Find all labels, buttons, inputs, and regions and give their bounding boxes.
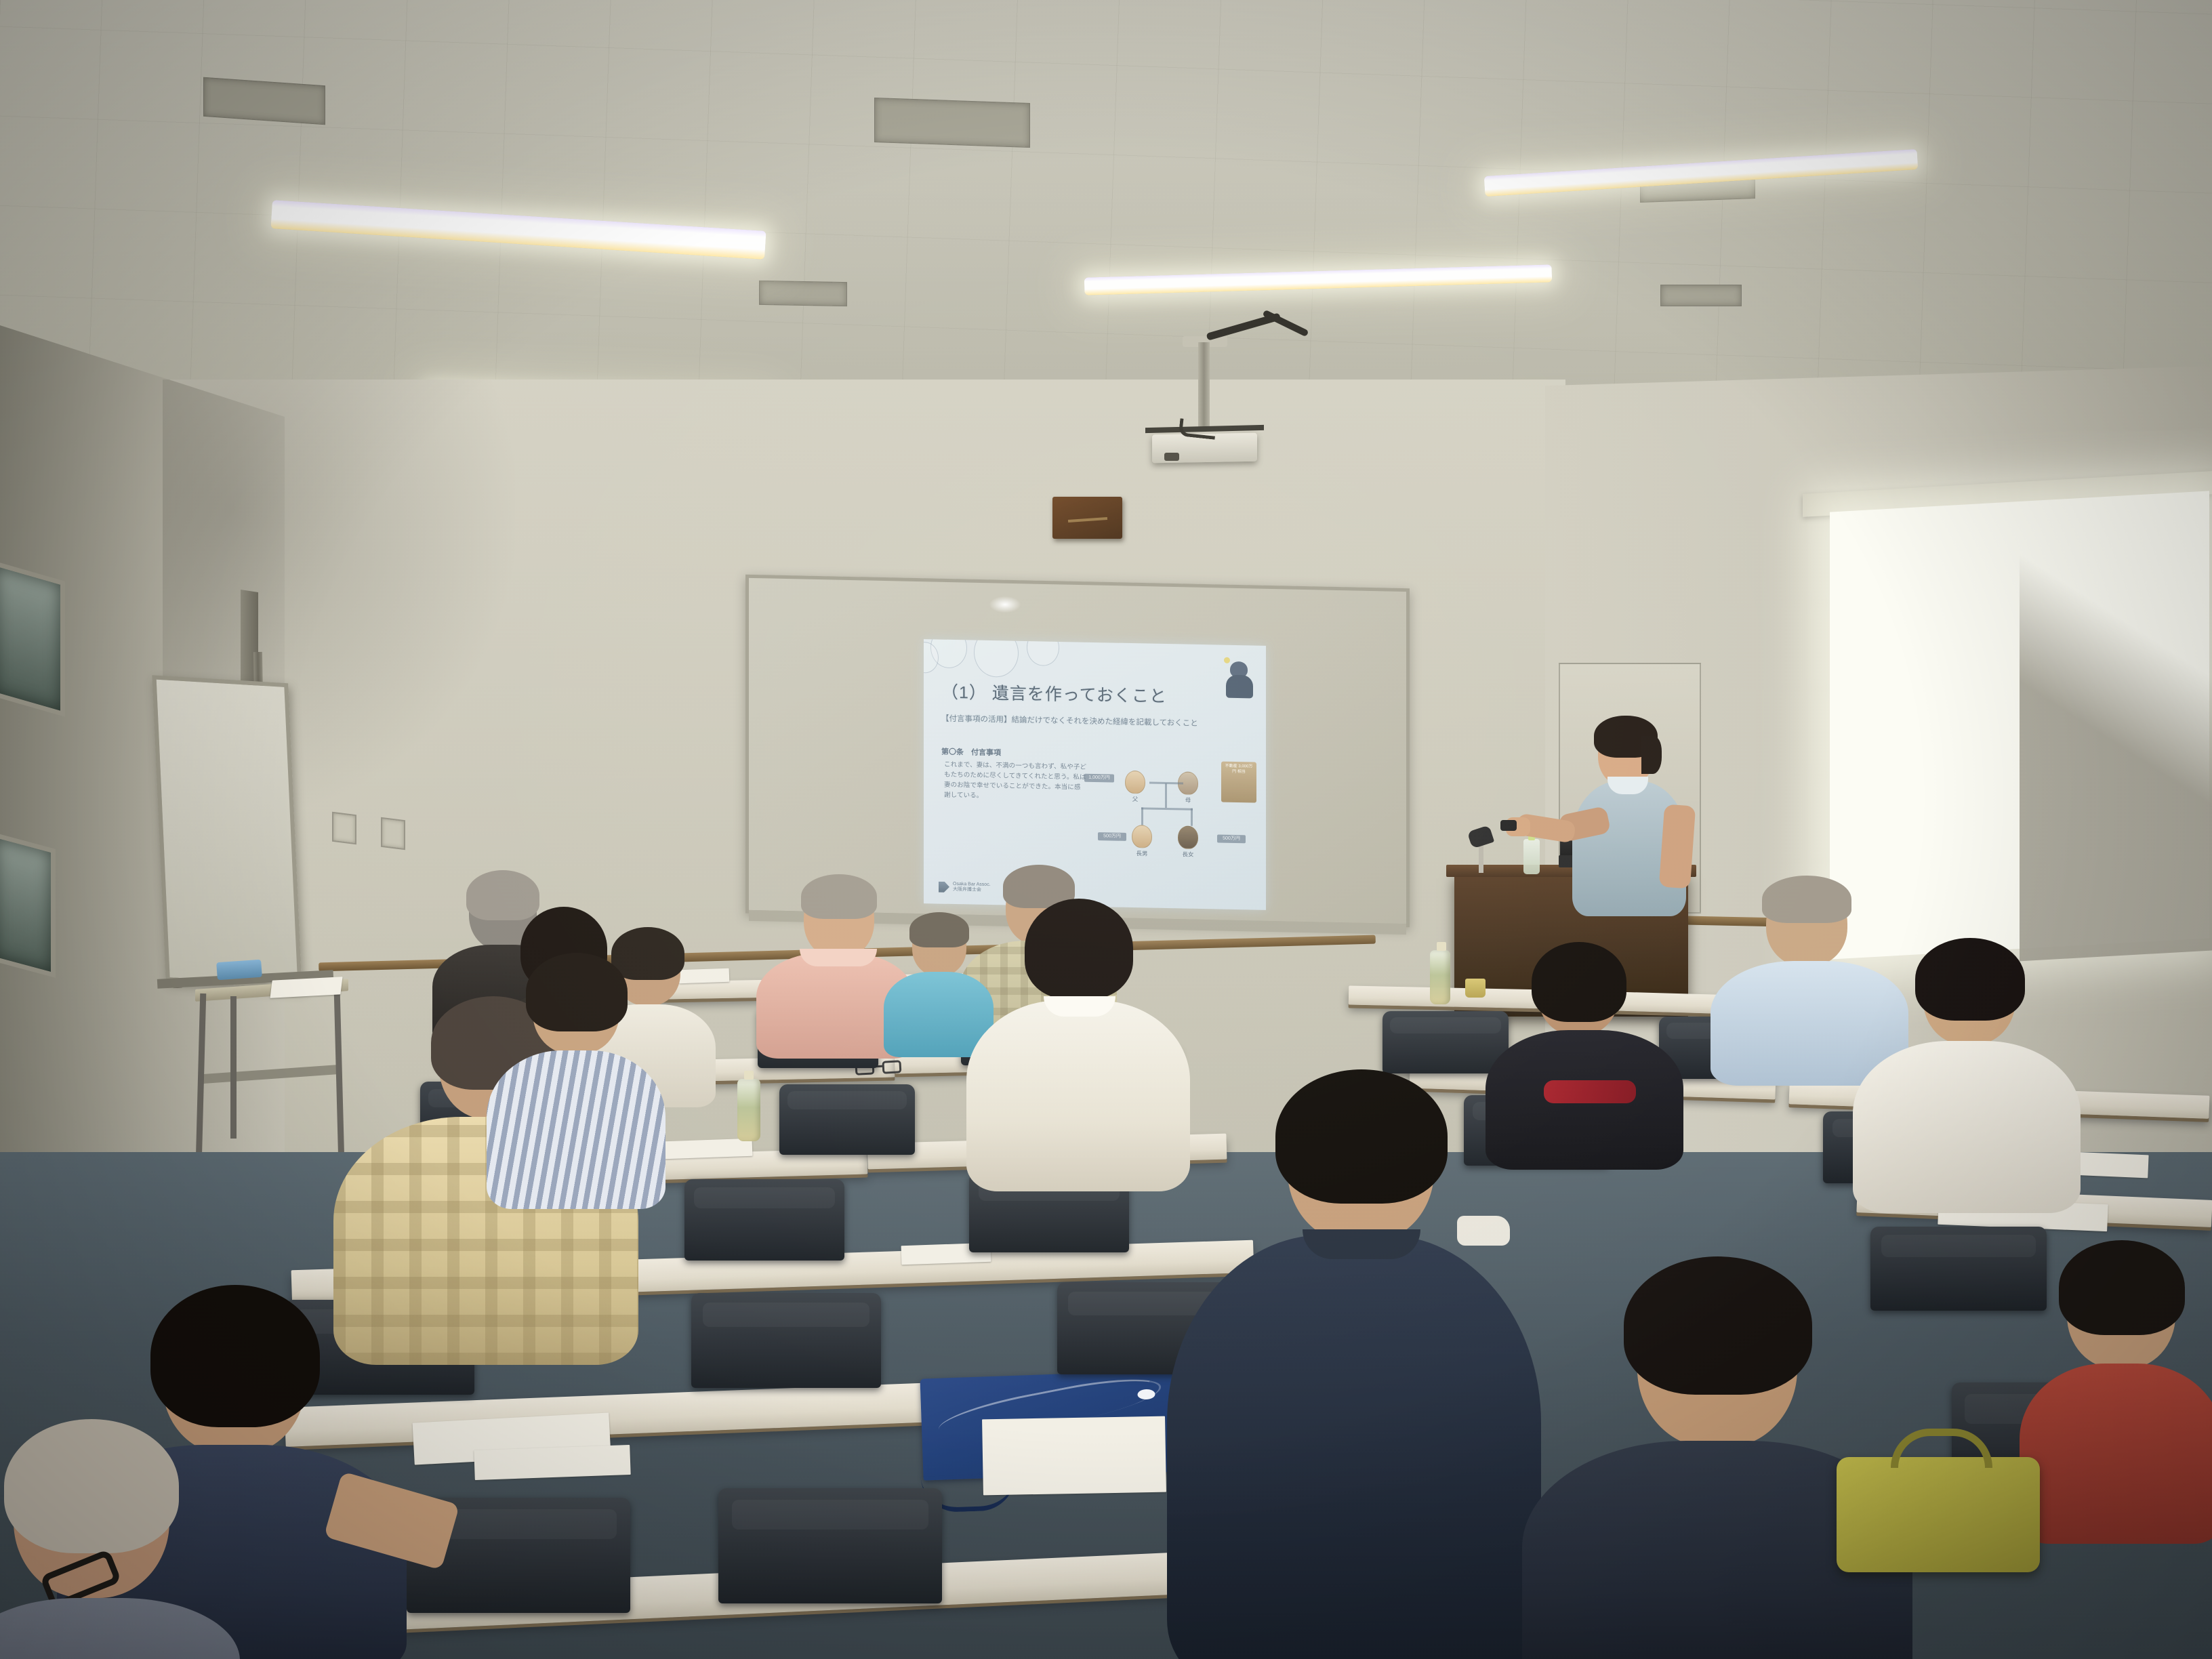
chair-r2-b[interactable] xyxy=(779,1084,915,1155)
attendee-torso xyxy=(1853,1041,2081,1213)
presenter-arm-right xyxy=(1659,804,1696,889)
water-bottle-desk-left[interactable] xyxy=(1430,950,1450,1004)
seminar-room-photo: （1） 遺言を作っておくこと 【付言事項の活用】結論だけでなくそれを決めた経緯を… xyxy=(0,0,2212,1659)
tree-figure-mother: 母 xyxy=(1178,771,1198,804)
slide-clause-heading: 第〇条 付言事項 xyxy=(941,746,1001,758)
attendee-hair-icon xyxy=(1762,876,1851,923)
microphone-stem xyxy=(1479,843,1483,873)
tree-note: 不動産 3,000万円 相当 xyxy=(1221,762,1256,803)
tree-figure-father: 父 xyxy=(1125,771,1145,804)
shoe-white xyxy=(1457,1216,1510,1246)
wall-outlet-1[interactable] xyxy=(332,812,356,844)
mobile-whiteboard[interactable] xyxy=(152,675,302,989)
family-tree-diagram: 不動産 3,000万円 相当 父 母 長男 長女 1,000万 xyxy=(1102,759,1256,890)
whiteboard-eraser[interactable] xyxy=(216,960,262,981)
tree-label-daughter: 長女 xyxy=(1178,850,1198,859)
attendee-torso xyxy=(2020,1364,2212,1544)
attendee-front-elderly-grey xyxy=(0,1429,258,1659)
attendee-hair-icon xyxy=(1532,942,1626,1022)
tree-label-mother: 母 xyxy=(1178,796,1198,804)
attendee-torso xyxy=(1167,1235,1541,1659)
attendee-hair-icon xyxy=(1915,938,2025,1021)
tree-amount-son: 500万円 xyxy=(1098,832,1126,841)
chair-r3-a[interactable] xyxy=(684,1179,844,1261)
ceiling-vent-5 xyxy=(1660,285,1742,306)
wall-outlet-2[interactable] xyxy=(381,817,405,850)
lawyer-illustration-icon xyxy=(1224,657,1255,700)
left-wall-window-upper xyxy=(0,560,65,717)
chair-r4-b[interactable] xyxy=(691,1293,881,1388)
slide-body-text: これまで、妻は、不満の一つも言わず、私や子どもたちのために尽くしてきてくれたと思… xyxy=(944,760,1086,803)
attendee-torso xyxy=(0,1598,240,1659)
remote-clicker-icon[interactable] xyxy=(1500,820,1517,831)
attendee-torso xyxy=(487,1050,665,1209)
attendee-hair-icon xyxy=(4,1419,179,1553)
tree-son-line xyxy=(1141,807,1143,825)
tree-descend-line xyxy=(1165,783,1167,808)
attendee-right-mid-white-polo xyxy=(1847,946,2086,1204)
tree-figure-daughter: 長女 xyxy=(1178,825,1198,859)
tree-amount-father: 1,000万円 xyxy=(1084,774,1114,783)
tree-sibling-line xyxy=(1141,807,1193,810)
right-window-shadow xyxy=(2020,510,2212,962)
tote-documents[interactable] xyxy=(982,1416,1166,1496)
attendee-right-edge xyxy=(2020,1251,2212,1536)
attendee-hair-icon xyxy=(150,1285,320,1427)
tree-label-father: 父 xyxy=(1125,795,1145,804)
attendee-hair-icon xyxy=(1624,1256,1812,1395)
slide-subtitle: 【付言事項の活用】結論だけでなくそれを決めた経緯を記載しておくこと xyxy=(941,714,1250,731)
attendee-collar xyxy=(1044,996,1115,1017)
left-wall-window-lower xyxy=(0,832,56,978)
projector-pole xyxy=(1198,342,1210,429)
ceiling-vent-4 xyxy=(759,281,847,306)
attendee-collar xyxy=(1303,1229,1420,1259)
attendee-tshirt-script xyxy=(1544,1080,1636,1103)
ceiling-vent-2 xyxy=(874,98,1030,148)
presenter xyxy=(1545,718,1715,949)
slide-bubble-decor xyxy=(924,639,1266,682)
tree-figure-son: 長男 xyxy=(1132,825,1152,858)
presenter-hair-side xyxy=(1641,736,1662,774)
attendee-hair-icon xyxy=(1025,899,1133,999)
org-logo-mark-icon xyxy=(939,882,949,893)
podium-water-bottle[interactable] xyxy=(1523,839,1540,874)
tree-label-son: 長男 xyxy=(1132,849,1152,858)
attendee-hair-icon xyxy=(801,874,877,919)
tree-daughter-line xyxy=(1191,808,1193,826)
attendee-hair-icon xyxy=(1275,1069,1448,1204)
attendee-collar xyxy=(800,949,877,966)
green-tea-bottle[interactable] xyxy=(737,1079,760,1141)
projector-lens-icon xyxy=(1164,453,1179,461)
floor-bag-yellow[interactable] xyxy=(1837,1457,2040,1572)
chair-r5-b[interactable] xyxy=(718,1488,942,1603)
attendee-hair-icon xyxy=(526,953,628,1031)
wall-plaque xyxy=(1052,497,1122,539)
attendee-row3-striped xyxy=(474,960,678,1204)
tree-amount-daughter: 500万円 xyxy=(1217,834,1246,843)
whiteboard-glare xyxy=(989,596,1021,613)
attendee-hair-icon xyxy=(2059,1240,2185,1335)
projected-slide: （1） 遺言を作っておくこと 【付言事項の活用】結論だけでなくそれを決めた経緯を… xyxy=(924,639,1266,910)
attendee-front-center-navy xyxy=(1152,1084,1552,1659)
handout-front-left2[interactable] xyxy=(474,1445,630,1480)
slide-title: （1） 遺言を作っておくこと xyxy=(941,679,1167,708)
